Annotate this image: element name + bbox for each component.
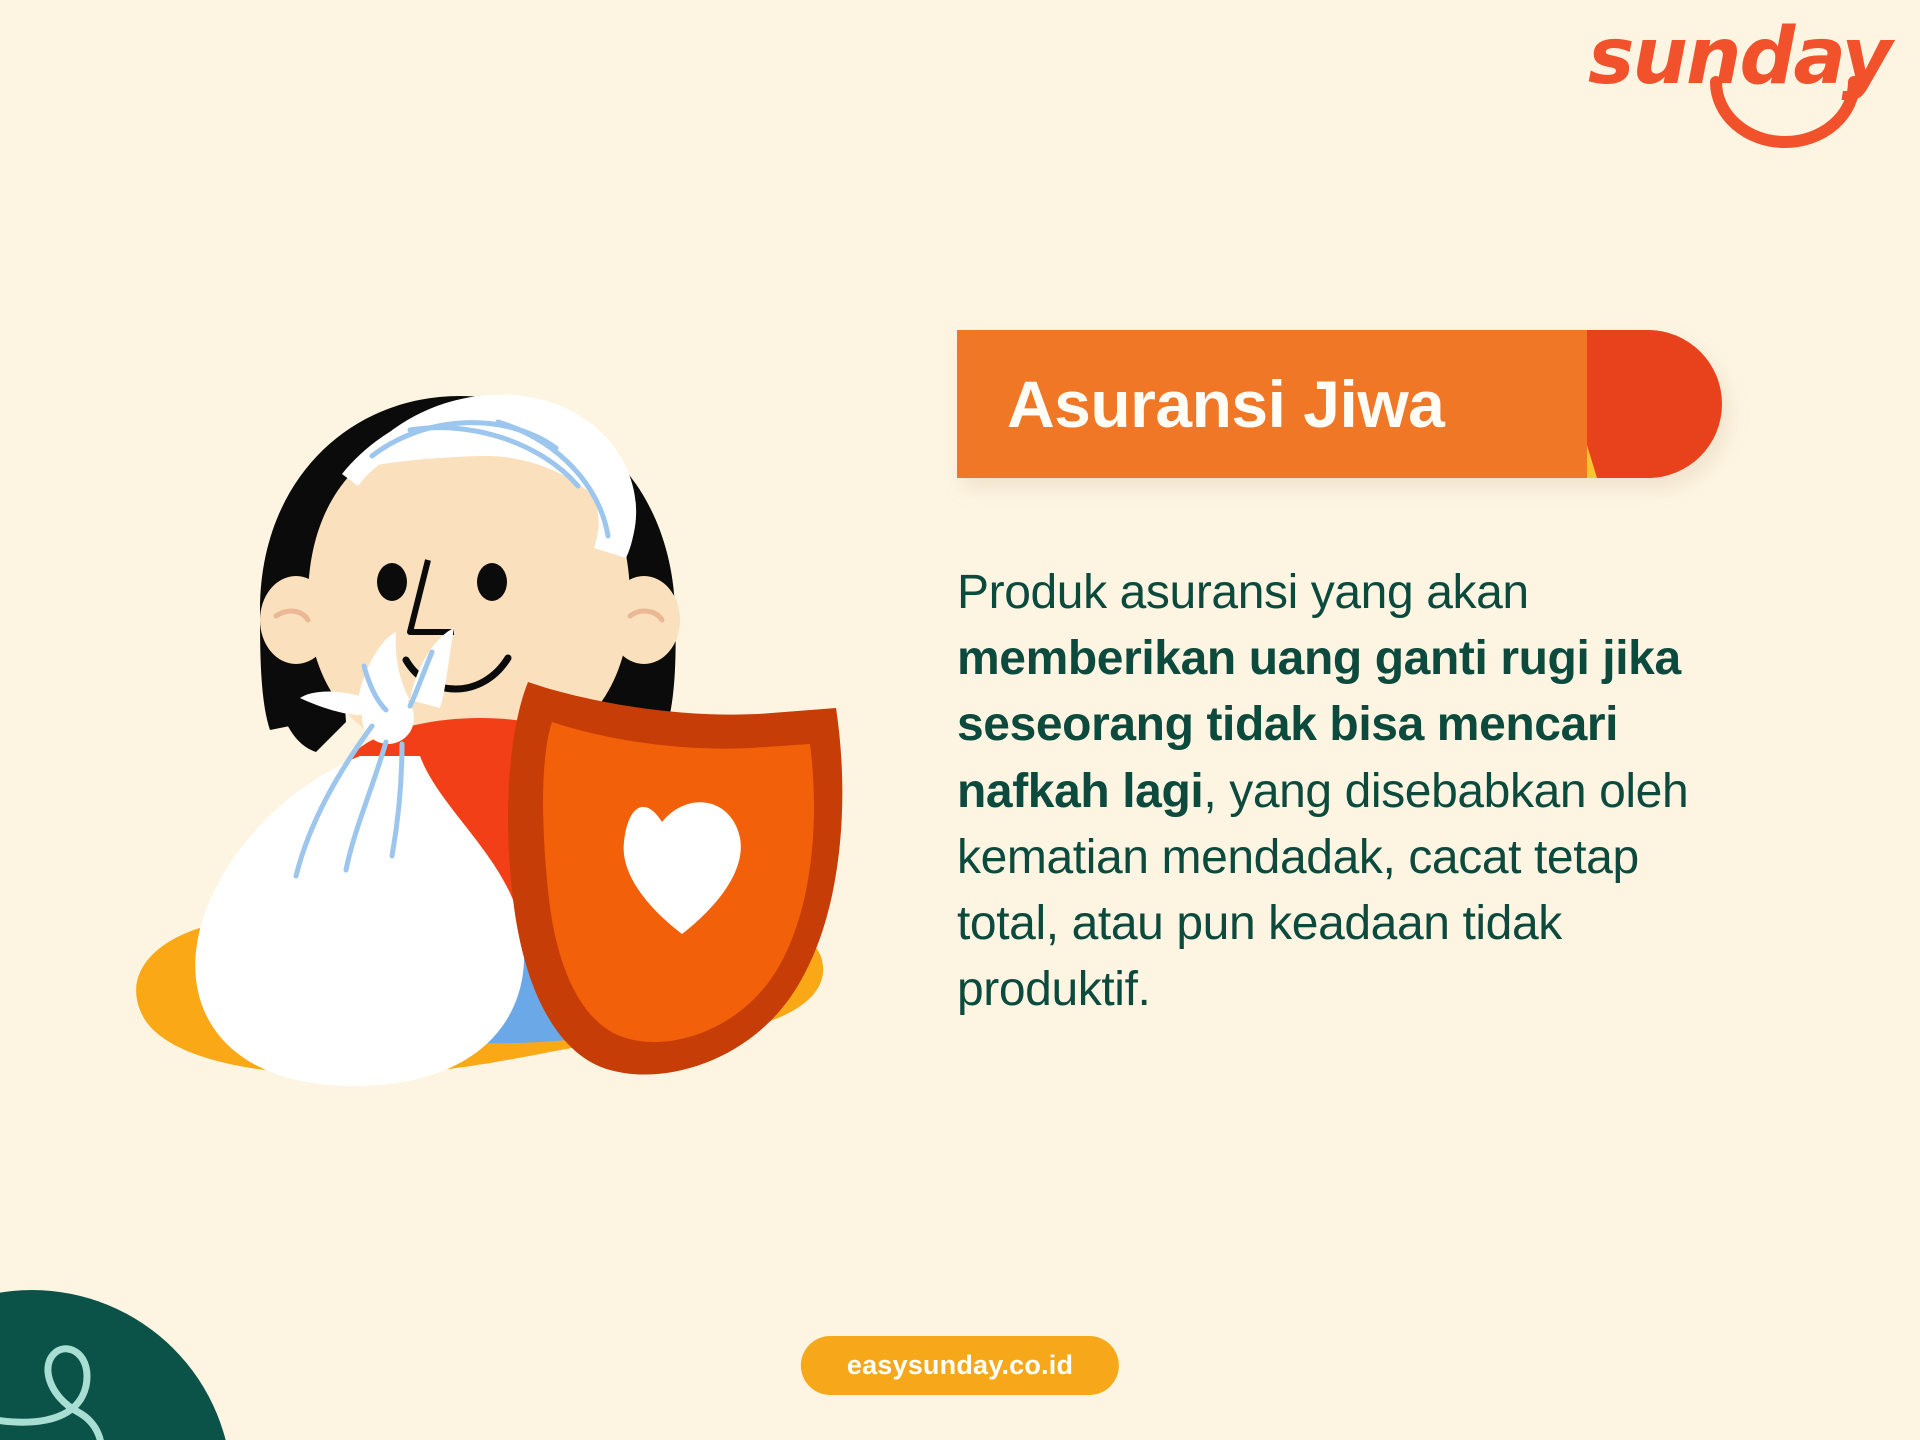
body-segment-lead: Produk asuransi yang akan xyxy=(957,566,1529,619)
sunday-smile-curve-icon xyxy=(1710,76,1860,154)
ear-right xyxy=(608,576,680,664)
page-title: Asuransi Jiwa xyxy=(1007,330,1444,478)
eye-left xyxy=(377,563,407,601)
illustration-life-insurance xyxy=(110,370,890,1150)
body-paragraph: Produk asuransi yang akan memberikan uan… xyxy=(957,560,1697,1024)
poster-canvas: sunday xyxy=(0,0,1920,1440)
content-panel: Asuransi Jiwa Produk asuransi yang akan … xyxy=(957,330,1757,1024)
title-banner: Asuransi Jiwa xyxy=(957,330,1722,478)
footer-url-pill[interactable]: easysunday.co.id xyxy=(801,1336,1119,1395)
ear-left xyxy=(260,576,332,664)
orange-shield xyxy=(508,682,842,1075)
eye-right xyxy=(477,563,507,601)
brand-logo[interactable]: sunday xyxy=(1588,18,1868,138)
decorative-teal-circle xyxy=(0,1290,232,1440)
